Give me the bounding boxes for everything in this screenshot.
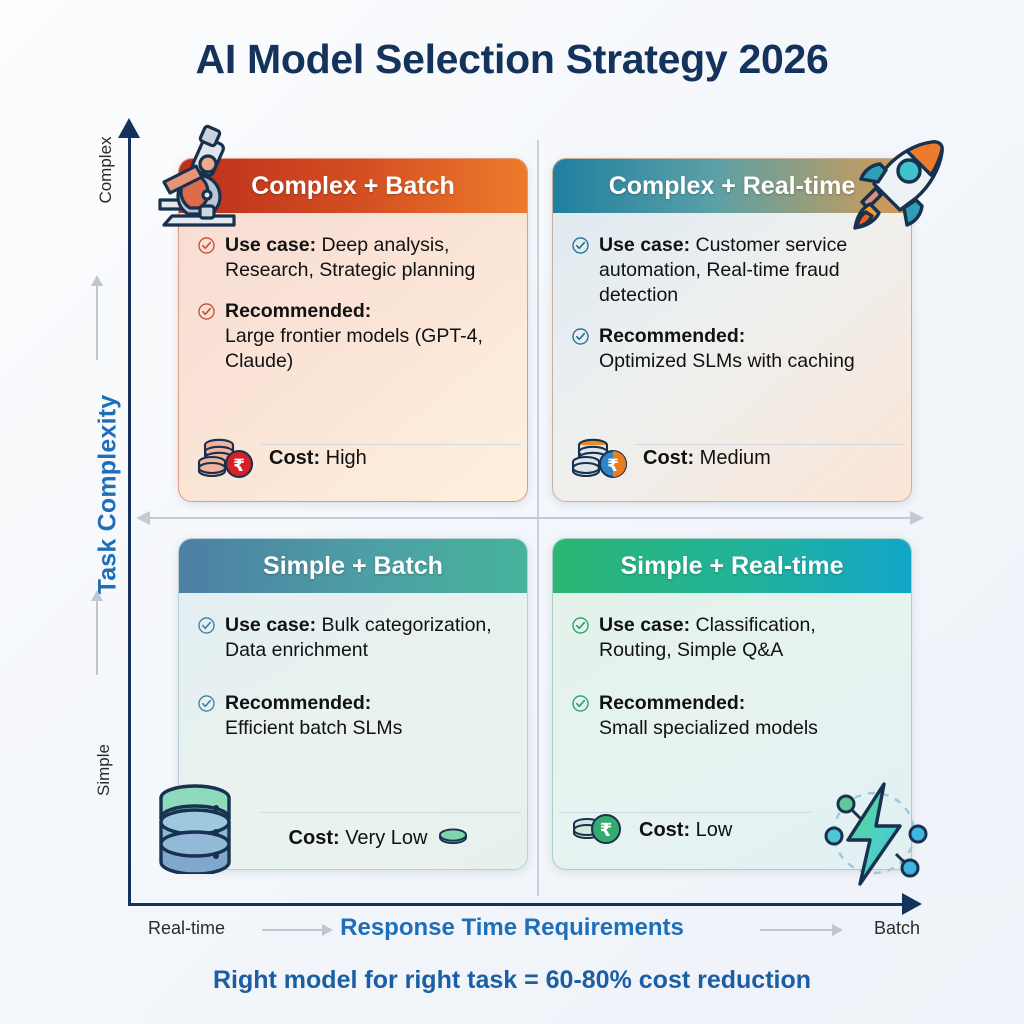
y-axis-up-arrow-icon-2 [96,600,98,675]
use-case-text: Use case: Bulk categorization, Data enri… [225,613,509,663]
cost-text: Cost: Medium [643,447,771,470]
rupee-coin-stack-orange-icon: ₹ [571,432,633,485]
cost-label: Cost: [269,447,320,469]
cost-value: Low [690,819,732,841]
svg-text:₹: ₹ [600,820,613,841]
use-case-text: Use case: Customer service automation, R… [599,233,893,308]
footer-callout: Right model for right task = 60-80% cost… [0,966,1024,995]
cost-row: ₹ Cost: Medium [571,432,893,485]
x-axis-right-arrow-icon [262,929,324,931]
cost-text: Cost: Low [639,819,732,842]
svg-text:₹: ₹ [607,456,619,476]
recommended-label: Recommended: [599,325,745,347]
recommended-label: Recommended: [599,692,745,714]
recommended-text: Recommended:Small specialized models [599,691,818,741]
recommended-value: Optimized SLMs with caching [599,350,855,372]
check-circle-icon [571,616,590,663]
x-axis-right-label: Batch [874,918,920,939]
use-case-text: Use case: Deep analysis, Research, Strat… [225,233,509,283]
check-circle-icon [197,694,216,741]
x-axis-right-arrow-icon-2 [760,929,834,931]
use-case-label: Use case: [599,234,690,256]
y-axis-line [128,132,131,906]
check-circle-icon [197,236,216,283]
cost-row: ₹ Cost: High [197,432,509,485]
infographic-canvas: AI Model Selection Strategy 2026 Task Co… [0,0,1024,1024]
check-circle-icon [197,302,216,374]
rupee-coin-stack-red-icon: ₹ [197,432,259,485]
cost-separator [261,812,521,813]
quadrant-header-simple-batch: Simple + Batch [179,539,527,593]
cost-label: Cost: [639,819,690,841]
rupee-coin-stack-green-icon: ₹ [571,808,629,853]
use-case-label: Use case: [599,614,690,636]
recommended-bullet: Recommended:Small specialized models [571,691,893,741]
y-axis-top-label: Complex [96,100,116,240]
x-axis-title: Response Time Requirements [0,914,1024,942]
page-title: AI Model Selection Strategy 2026 [0,36,1024,83]
x-axis-line [128,903,908,906]
recommended-bullet: Recommended:Large frontier models (GPT-4… [197,299,509,374]
svg-text:₹: ₹ [233,456,245,476]
y-axis-bottom-label: Simple [94,700,114,840]
check-circle-icon [571,327,590,374]
use-case-bullet: Use case: Classification, Routing, Simpl… [571,613,893,663]
cost-row: Cost: Very Low [249,824,509,853]
cost-text: Cost: High [269,447,367,470]
x-axis-arrowhead-icon [902,893,922,915]
use-case-label: Use case: [225,234,316,256]
use-case-text: Use case: Classification, Routing, Simpl… [599,613,893,663]
recommended-label: Recommended: [225,300,371,322]
quadrant-horizontal-divider [150,517,910,519]
use-case-bullet: Use case: Bulk categorization, Data enri… [197,613,509,663]
recommended-bullet: Recommended:Efficient batch SLMs [197,691,509,741]
use-case-bullet: Use case: Deep analysis, Research, Strat… [197,233,509,283]
cost-value: Very Low [340,827,428,849]
check-circle-icon [571,694,590,741]
cost-label: Cost: [289,827,340,849]
quadrant-header-simple-realtime: Simple + Real-time [553,539,911,593]
quadrant-body-complex-batch: Use case: Deep analysis, Research, Strat… [179,213,527,501]
database-icon [152,782,238,874]
cost-text: Cost: Very Low [289,827,428,850]
check-circle-icon [571,236,590,308]
y-axis-title: Task Complexity [94,365,123,625]
rocket-icon [846,130,956,240]
quadrant-body-complex-realtime: Use case: Customer service automation, R… [553,213,911,501]
check-circle-icon [197,616,216,663]
recommended-value: Efficient batch SLMs [225,717,402,739]
microscope-icon [142,120,248,230]
use-case-bullet: Use case: Customer service automation, R… [571,233,893,308]
recommended-text: Recommended:Large frontier models (GPT-4… [225,299,509,374]
cost-label: Cost: [643,447,694,469]
cost-value: High [320,447,367,469]
recommended-text: Recommended:Optimized SLMs with caching [599,324,855,374]
y-axis-up-arrow-icon [96,285,98,360]
recommended-bullet: Recommended:Optimized SLMs with caching [571,324,893,374]
green-coin-icon [437,824,469,853]
recommended-value: Small specialized models [599,717,818,739]
cost-value: Medium [694,447,771,469]
recommended-label: Recommended: [225,692,371,714]
recommended-text: Recommended:Efficient batch SLMs [225,691,402,741]
use-case-label: Use case: [225,614,316,636]
lightning-network-icon [818,778,930,888]
recommended-value: Large frontier models (GPT-4, Claude) [225,325,483,372]
y-axis-arrowhead-icon [118,118,140,138]
